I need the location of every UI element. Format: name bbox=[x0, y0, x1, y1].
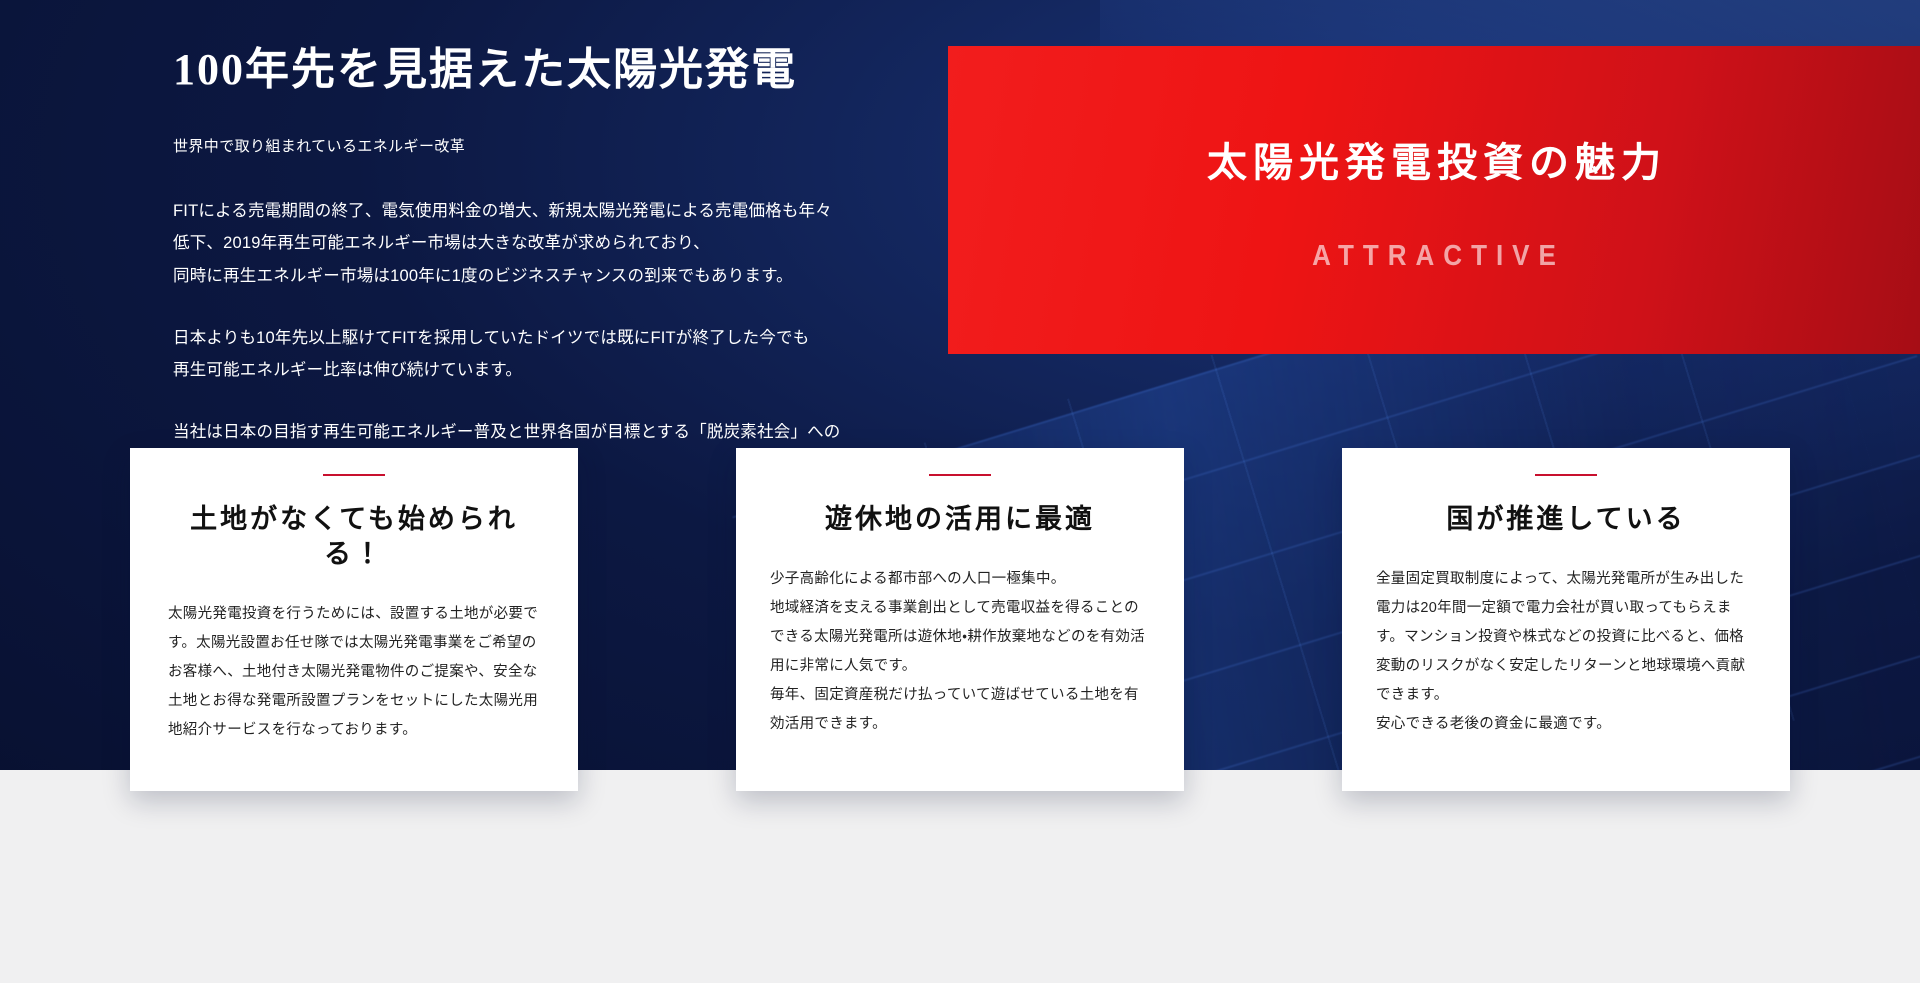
lead-paragraph-1: FITによる売電期間の終了、電気使用料金の増大、新規太陽光発電による売電価格も年… bbox=[173, 195, 955, 292]
card-title: 土地がなくても始められる！ bbox=[168, 502, 540, 572]
page-bottom-band bbox=[0, 770, 1920, 983]
lead-subtitle: 世界中で取り組まれているエネルギー改革 bbox=[173, 133, 955, 162]
promo-subtitle: ATTRACTIVE bbox=[1303, 238, 1565, 273]
card-title: 遊休地の活用に最適 bbox=[770, 502, 1150, 537]
card-title: 国が推進している bbox=[1376, 502, 1756, 537]
promo-banner: 太陽光発電投資の魅力 ATTRACTIVE bbox=[948, 46, 1920, 354]
card-rule-divider bbox=[323, 474, 385, 476]
card-body: 全量固定買取制度によって、太陽光発電所が生み出した電力は20年間一定額で電力会社… bbox=[1376, 565, 1756, 739]
promo-title: 太陽光発電投資の魅力 bbox=[1201, 130, 1667, 188]
feature-card: 国が推進している 全量固定買取制度によって、太陽光発電所が生み出した電力は20年… bbox=[1342, 448, 1790, 791]
feature-card: 遊休地の活用に最適 少子高齢化による都市部への人口一極集中。 地域経済を支える事… bbox=[736, 448, 1184, 791]
page-title: 100年先を見据えた太陽光発電 bbox=[173, 44, 955, 97]
card-body: 少子高齢化による都市部への人口一極集中。 地域経済を支える事業創出として売電収益… bbox=[770, 565, 1150, 739]
page-stage: 100年先を見据えた太陽光発電 世界中で取り組まれているエネルギー改革 FITに… bbox=[0, 0, 1920, 983]
feature-card: 土地がなくても始められる！ 太陽光発電投資を行うためには、設置する土地が必要です… bbox=[130, 448, 578, 791]
card-rule-divider bbox=[929, 474, 991, 476]
lead-section: 100年先を見据えた太陽光発電 世界中で取り組まれているエネルギー改革 FITに… bbox=[165, 44, 955, 481]
card-rule-divider bbox=[1535, 474, 1597, 476]
lead-paragraph-2: 日本よりも10年先以上駆けてFITを採用していたドイツでは既にFITが終了した今… bbox=[173, 322, 955, 386]
feature-card-list: 土地がなくても始められる！ 太陽光発電投資を行うためには、設置する土地が必要です… bbox=[130, 448, 1790, 791]
card-body: 太陽光発電投資を行うためには、設置する土地が必要です。太陽光設置お任せ隊では太陽… bbox=[168, 600, 540, 745]
